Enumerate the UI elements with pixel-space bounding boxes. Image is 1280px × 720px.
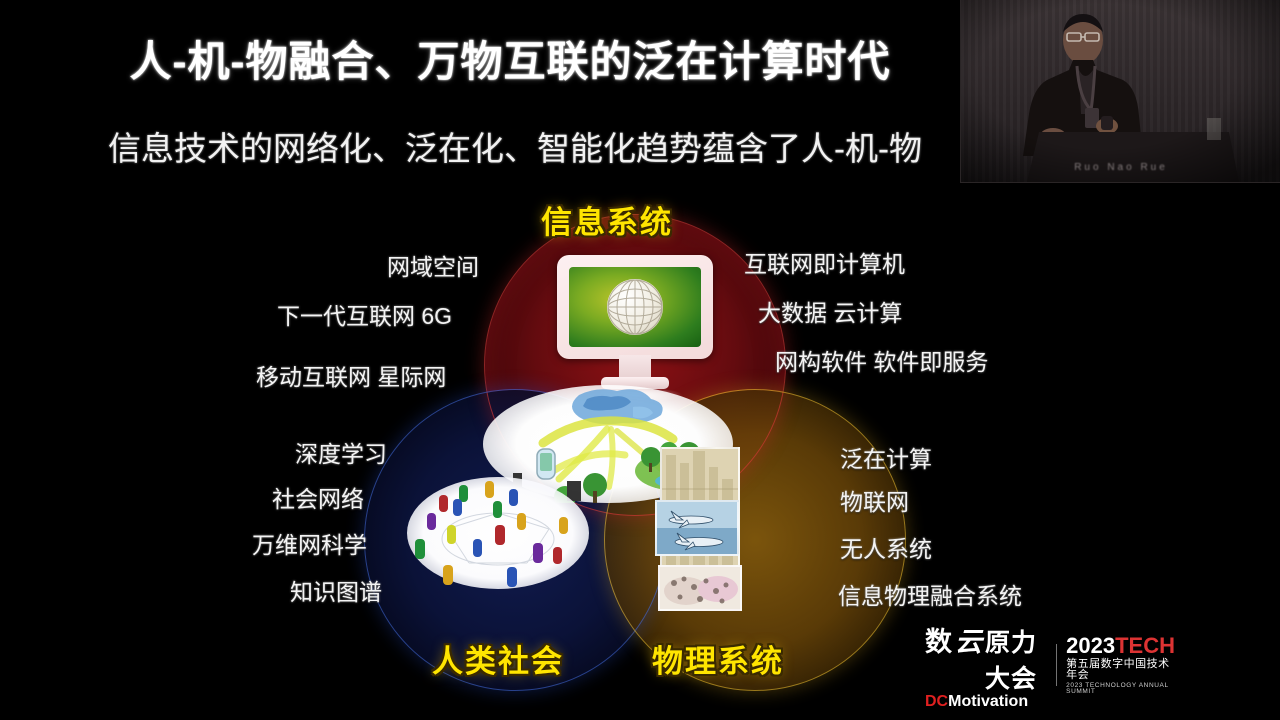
keyword-top-left-1: 网域空间: [387, 248, 479, 282]
presentation-slide: 人-机-物融合、万物互联的泛在计算时代 信息技术的网络化、泛在化、智能化趋势蕴含…: [0, 0, 1280, 720]
keyword-bottom-right-4: 信息物理融合系统: [838, 577, 1022, 611]
keyword-bottom-left-2: 社会网络: [272, 480, 364, 514]
venn-label-information-system: 信息系统: [541, 197, 673, 242]
keyword-bottom-right-3: 无人系统: [840, 530, 932, 564]
venn-label-human-society: 人类社会: [432, 636, 564, 681]
keyword-bottom-right-2: 物联网: [840, 483, 909, 517]
conference-logo-brand: 数 云 原力大会 DC Motivation: [925, 620, 1047, 711]
venn-label-physical-system: 物理系统: [652, 636, 784, 681]
keyword-top-left-2: 下一代互联网 6G: [277, 297, 452, 331]
monitor-globe-icon: [557, 255, 713, 395]
presenter-caption: Ruo Nao Rue: [961, 162, 1280, 173]
keyword-bottom-left-3: 万维网科学: [252, 526, 367, 560]
photo-airplanes: [655, 500, 739, 556]
logo-text-dc: DC: [925, 693, 948, 711]
presenter-video-overlay[interactable]: Ruo Nao Rue: [960, 0, 1280, 183]
keyword-top-right-2: 大数据 云计算: [758, 294, 902, 328]
keyword-bottom-right-1: 泛在计算: [840, 440, 932, 474]
logo-divider: [1056, 644, 1057, 686]
keyword-bottom-left-1: 深度学习: [295, 435, 387, 469]
keyword-top-left-3: 移动互联网 星际网: [256, 358, 446, 392]
logo-char-shu: 数: [925, 620, 952, 659]
conference-logo: 数 云 原力大会 DC Motivation 2023TECH 第五届数字中国技…: [925, 634, 1175, 696]
logo-year: 2023: [1066, 633, 1115, 658]
logo-char-yun: 云: [955, 620, 982, 659]
logo-summit-cn: 第五届数字中国技术年会: [1066, 659, 1175, 681]
people-network-graphic: [407, 477, 589, 589]
keyword-top-right-1: 互联网即计算机: [744, 245, 905, 279]
slide-title: 人-机-物融合、万物互联的泛在计算时代: [0, 28, 1020, 89]
keyword-bottom-left-4: 知识图谱: [290, 573, 382, 607]
slide-subtitle: 信息技术的网络化、泛在化、智能化趋势蕴含了人-机-物: [0, 122, 1030, 170]
logo-text-motivation: Motivation: [948, 693, 1028, 711]
logo-text-yuanli: 原力大会: [985, 623, 1037, 695]
keyword-top-right-3: 网构软件 软件即服务: [775, 343, 988, 377]
presenter-figure: [961, 0, 1280, 182]
photo-factory-crowd: [658, 565, 742, 611]
conference-logo-summit: 2023TECH 第五届数字中国技术年会 2023 TECHNOLOGY ANN…: [1066, 635, 1175, 696]
logo-tech: TECH: [1115, 633, 1175, 658]
logo-summit-en: 2023 TECHNOLOGY ANNUAL SUMMIT: [1066, 683, 1175, 696]
